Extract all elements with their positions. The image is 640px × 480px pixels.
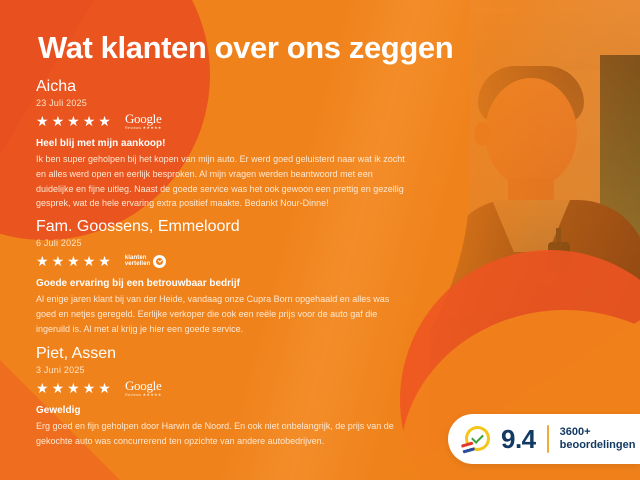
google-reviews-badge: Google Reviews ★★★★★ [125,379,162,397]
reviewer-name: Fam. Goossens, Emmeloord [36,218,408,236]
review-body: Ik ben super geholpen bij het kopen van … [36,152,408,210]
google-reviews-subtext: Reviews ★★★★★ [125,126,162,130]
star-rating: ★ ★ ★ ★ ★ [36,254,111,268]
review-banner: VDH Wat klanten over ons zeggen Aicha 23… [0,0,640,480]
star-icon: ★ [52,114,65,128]
content-layer: Wat klanten over ons zeggen Aicha 23 Jul… [0,0,640,480]
star-icon: ★ [67,381,80,395]
review-date: 6 Juli 2025 [36,238,408,248]
checkmark-icon [153,255,166,268]
star-icon: ★ [67,114,80,128]
review-meta: ★ ★ ★ ★ ★ Google Reviews ★★★★★ [36,380,408,396]
reviewer-name: Piet, Assen [36,345,408,363]
review-body: Erg goed en fijn geholpen door Harwin de… [36,419,408,448]
star-rating: ★ ★ ★ ★ ★ [36,381,111,395]
star-icon: ★ [36,254,49,268]
klantenvertellen-label-line1: klanten [125,255,151,262]
google-reviews-badge: Google Reviews ★★★★★ [125,112,162,130]
star-rating: ★ ★ ★ ★ ★ [36,114,111,128]
review-meta: ★ ★ ★ ★ ★ Google Reviews ★★★★★ [36,113,408,129]
star-icon: ★ [67,254,80,268]
review-card: Aicha 23 Juli 2025 ★ ★ ★ ★ ★ Google Revi… [36,78,408,211]
rating-count: 3600+ beoordelingen [560,426,636,452]
dutch-flag-icon [461,442,475,454]
rating-count-label: beoordelingen [560,439,636,452]
star-icon: ★ [83,381,96,395]
star-icon: ★ [52,381,65,395]
review-meta: ★ ★ ★ ★ ★ klanten vertellen [36,253,408,269]
review-card: Piet, Assen 3 Juni 2025 ★ ★ ★ ★ ★ Google… [36,345,408,449]
divider [547,425,549,453]
klantenvertellen-badge: klanten vertellen [125,255,167,269]
star-icon: ★ [83,254,96,268]
klantenvertellen-keurmerk-icon [462,424,492,454]
review-card: Fam. Goossens, Emmeloord 6 Juli 2025 ★ ★… [36,218,408,336]
star-icon: ★ [83,114,96,128]
rating-score: 9.4 [501,424,536,455]
review-date: 23 Juli 2025 [36,98,408,108]
reviewer-name: Aicha [36,78,408,96]
rating-badge: 9.4 3600+ beoordelingen [448,414,640,464]
review-title: Geweldig [36,405,408,416]
star-icon: ★ [98,254,111,268]
star-icon: ★ [36,381,49,395]
review-date: 3 Juni 2025 [36,365,408,375]
google-logo-text: Google [125,379,162,392]
star-icon: ★ [98,114,111,128]
star-icon: ★ [52,254,65,268]
klantenvertellen-label-line2: vertellen [125,261,151,268]
star-icon: ★ [98,381,111,395]
google-logo-text: Google [125,112,162,125]
page-title: Wat klanten over ons zeggen [38,30,453,66]
review-title: Goede ervaring bij een betrouwbaar bedri… [36,278,408,289]
review-title: Heel blij met mijn aankoop! [36,138,408,149]
review-body: Al enige jaren klant bij van der Heide, … [36,292,408,336]
rating-count-number: 3600+ [560,426,636,439]
google-reviews-subtext: Reviews ★★★★★ [125,393,162,397]
star-icon: ★ [36,114,49,128]
